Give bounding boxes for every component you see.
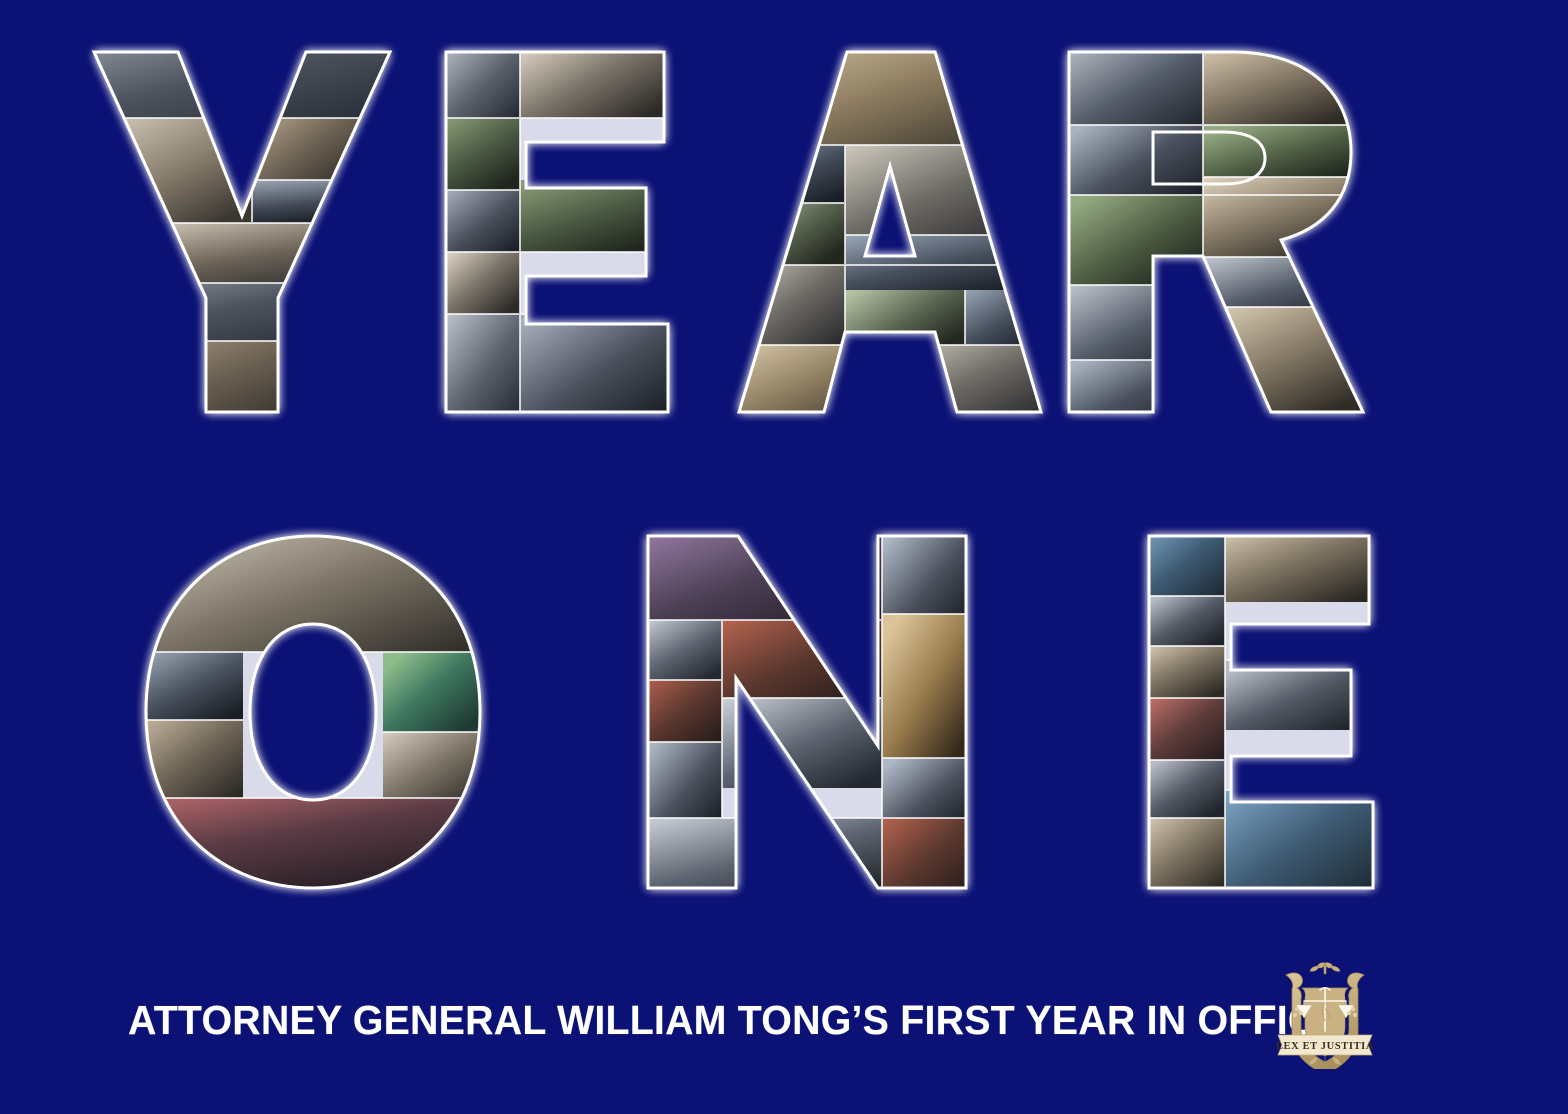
collage-letter-E-bottom (1143, 528, 1375, 896)
collage-letter-E-top (440, 40, 670, 418)
collage-letter-O (138, 528, 488, 896)
collage-letter-Y (92, 40, 392, 418)
collage-letter-N (642, 528, 972, 896)
seal-motto-text: LEX ET JUSTITIA (1276, 1041, 1374, 1052)
connecticut-state-seal-icon: LEX ET JUSTITIA (1262, 957, 1388, 1069)
poster-canvas: ATTORNEY GENERAL WILLIAM TONG’S FIRST YE… (0, 0, 1568, 1114)
collage-letter-A (735, 40, 1045, 418)
headline-row-year (0, 40, 1568, 420)
collage-letter-R (1063, 40, 1368, 418)
headline-row-one (0, 528, 1568, 900)
poster-caption: ATTORNEY GENERAL WILLIAM TONG’S FIRST YE… (128, 975, 1343, 1065)
